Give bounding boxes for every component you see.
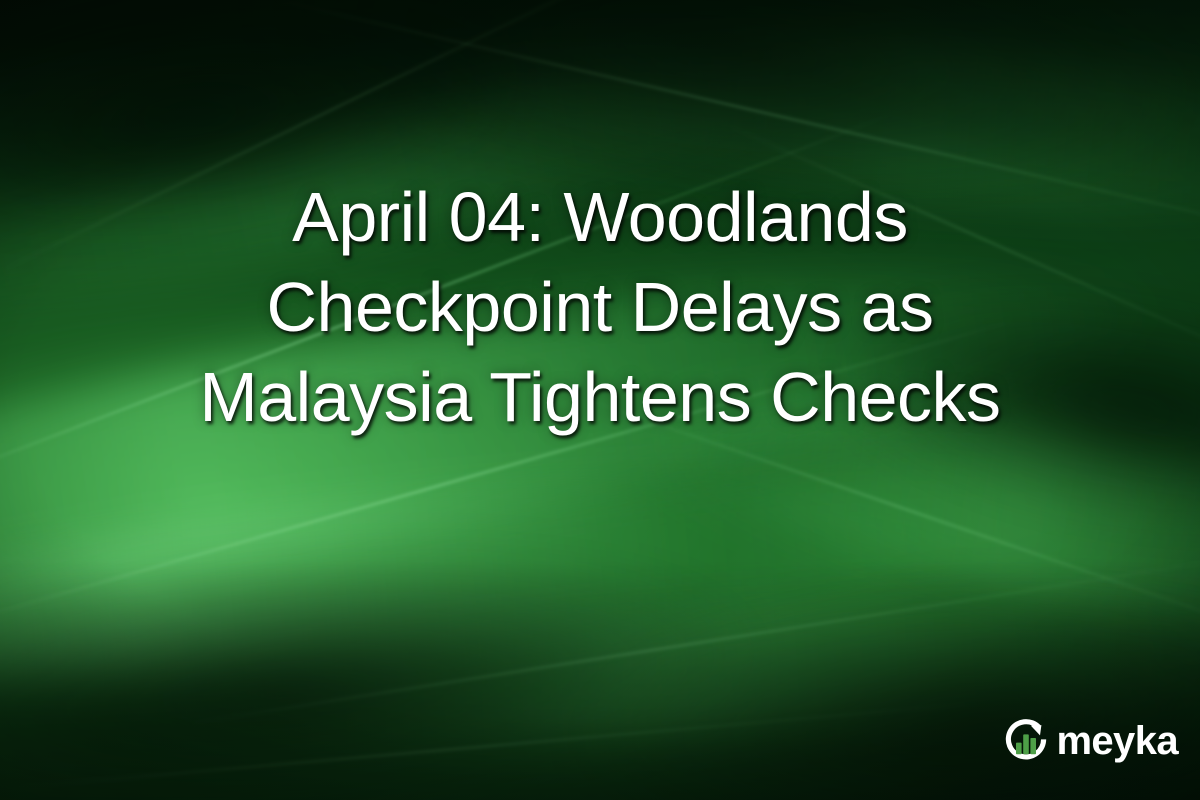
light-streak-8: [2, 702, 978, 789]
shadow-band-1: [0, 518, 789, 800]
headline-line-1: April 04: Woodlands: [60, 172, 1140, 262]
light-ribbon-b: [0, 426, 1164, 724]
news-banner-image: April 04: Woodlands Checkpoint Delays as…: [0, 0, 1200, 800]
headline-line-2: Checkpoint Delays as: [60, 262, 1140, 352]
headline-block: April 04: Woodlands Checkpoint Delays as…: [0, 172, 1200, 442]
brand-wordmark: meyka: [1056, 721, 1178, 763]
headline-line-3: Malaysia Tightens Checks: [60, 352, 1140, 442]
meyka-logo-icon: [1000, 716, 1052, 768]
light-streak-4: [186, 557, 1200, 725]
brand-logo-lockup[interactable]: meyka: [1000, 716, 1178, 768]
